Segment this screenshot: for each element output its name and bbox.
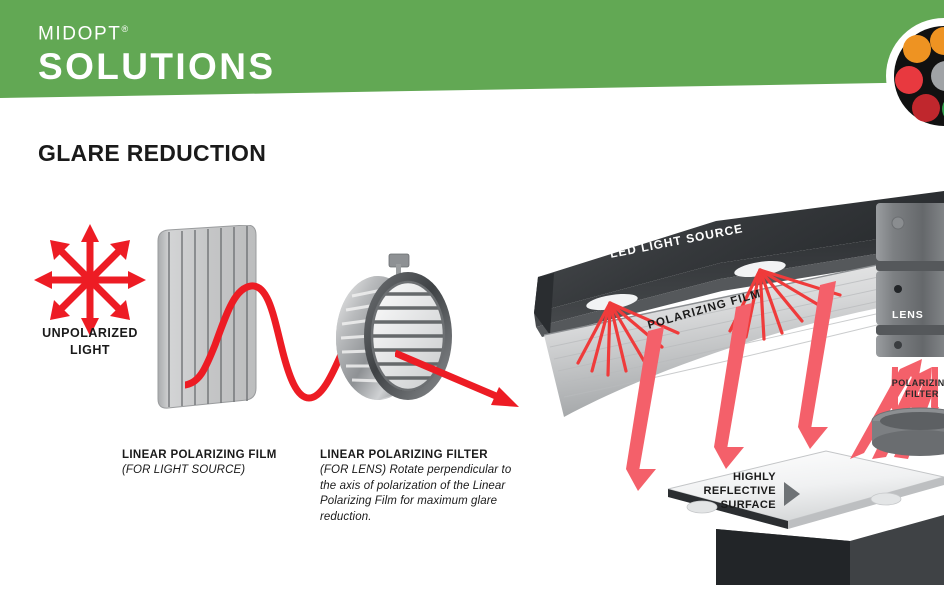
brand-name-text: MIDOPT xyxy=(38,23,122,44)
brand-subtitle: SOLUTIONS xyxy=(38,46,275,88)
unpolarized-light-starburst-icon xyxy=(30,220,150,340)
caption-filter-title: LINEAR POLARIZING FILTER xyxy=(320,447,520,463)
reflective-label-line2: REFLECTIVE xyxy=(704,485,776,497)
midopt-filter-wheel-logo-icon xyxy=(884,16,944,136)
polarizing-filter-label: POLARIZING FILTER xyxy=(880,378,944,399)
lens-label: LENS xyxy=(892,309,924,321)
reflective-label-line3: SURFACE xyxy=(721,499,776,511)
reflective-surface-pointer-arrow-icon xyxy=(784,482,800,506)
page-header: MIDOPT® SOLUTIONS xyxy=(0,0,944,140)
caption-linear-polarizing-film: LINEAR POLARIZING FILM (FOR LIGHT SOURCE… xyxy=(122,447,312,479)
unpolarized-light-label: UNPOLARIZED LIGHT xyxy=(22,325,158,359)
caption-film-title: LINEAR POLARIZING FILM xyxy=(122,447,312,463)
unpolarized-label-line2: LIGHT xyxy=(70,343,110,357)
slide-canvas: MIDOPT® SOLUTIONS GLARE REDUCTION xyxy=(0,0,944,600)
polarized-output-ray-arrow xyxy=(395,345,525,420)
brand-name: MIDOPT® xyxy=(38,18,275,45)
page-title: GLARE REDUCTION xyxy=(38,140,266,167)
registered-trademark-icon: ® xyxy=(122,24,129,34)
caption-linear-polarizing-filter: LINEAR POLARIZING FILTER (FOR LENS) Rota… xyxy=(320,447,520,525)
brand-lockup: MIDOPT® SOLUTIONS xyxy=(38,18,275,88)
caption-filter-body: (FOR LENS) Rotate perpendicular to the a… xyxy=(320,463,520,525)
highly-reflective-surface-label: HIGHLY REFLECTIVE SURFACE xyxy=(688,470,776,512)
reflective-label-line1: HIGHLY xyxy=(733,471,776,483)
polarizing-filter-label-line2: FILTER xyxy=(905,389,939,399)
right-diagram: LED LIGHT SOURCE POLARIZING FILM LENS PO… xyxy=(520,185,944,585)
caption-film-body: (FOR LIGHT SOURCE) xyxy=(122,463,312,479)
unpolarized-label-line1: UNPOLARIZED xyxy=(42,326,138,340)
polarizing-filter-label-line1: POLARIZING xyxy=(892,378,944,388)
